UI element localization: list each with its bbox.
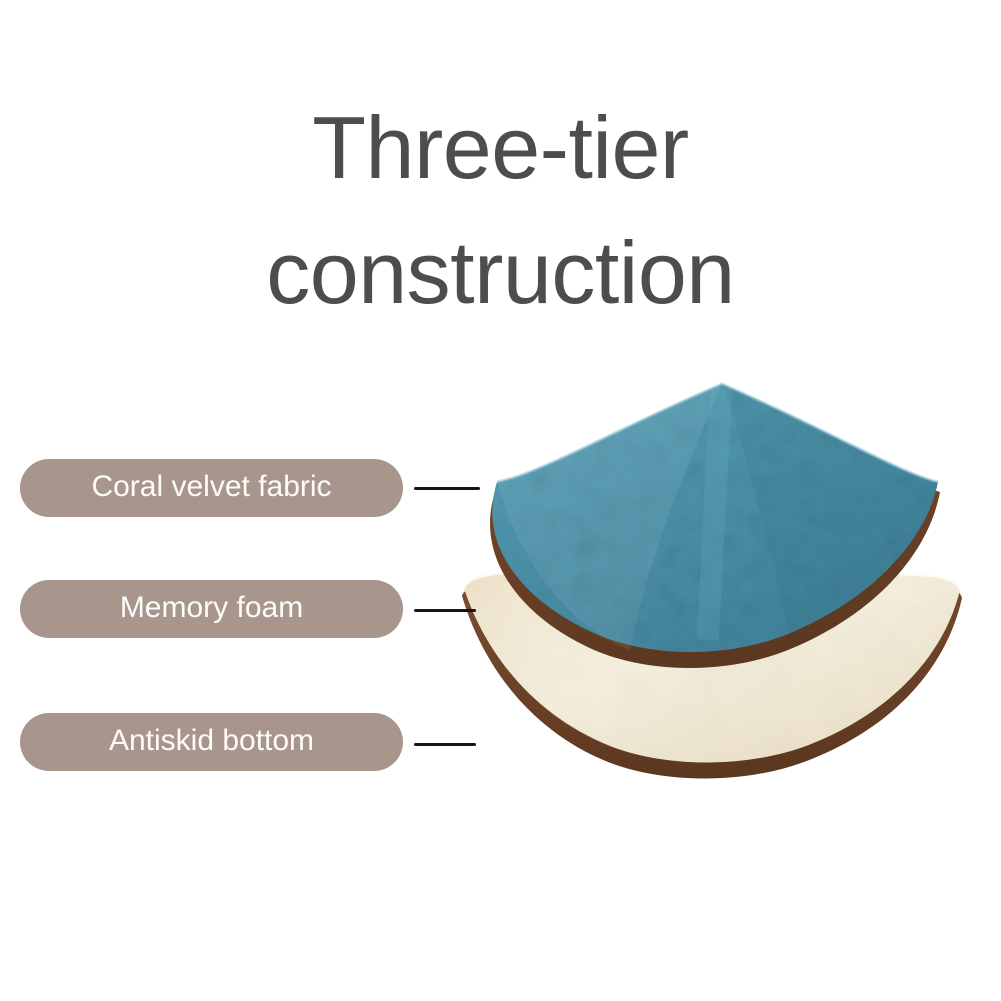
label-pill-coral-velvet-fabric: Coral velvet fabric [20, 459, 403, 517]
label-pill-antiskid-bottom: Antiskid bottom [20, 713, 403, 771]
label-text-coral-velvet-fabric: Coral velvet fabric [91, 470, 331, 504]
leader-line-antiskid-bottom [414, 743, 476, 746]
label-text-memory-foam: Memory foam [120, 591, 303, 625]
exploded-layers-graphic [440, 378, 1000, 870]
layer-stack-illustration [440, 378, 1000, 870]
label-pill-memory-foam: Memory foam [20, 580, 403, 638]
infographic-canvas: Three-tier construction [0, 0, 1001, 1001]
leader-line-memory-foam [414, 609, 476, 612]
top-layer-crease-highlight [708, 388, 722, 640]
leader-line-coral-velvet-fabric [414, 487, 480, 490]
page-title: Three-tier construction [0, 86, 1001, 336]
label-text-antiskid-bottom: Antiskid bottom [109, 724, 314, 758]
